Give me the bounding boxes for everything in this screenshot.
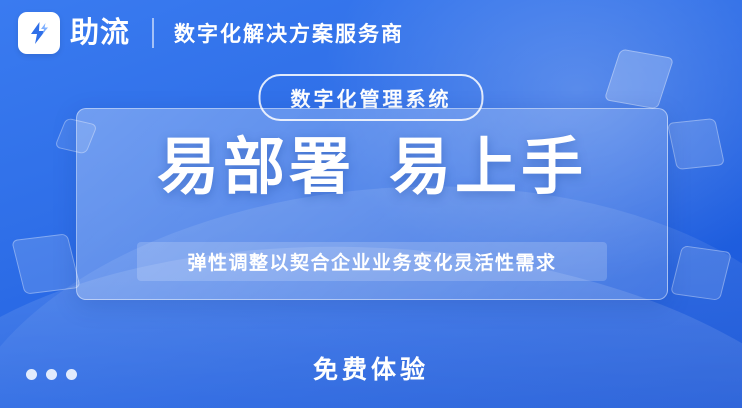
hero-headline-left: 易部署	[157, 133, 355, 202]
lightning-bolt-icon	[26, 20, 52, 46]
logo-text: 助流	[70, 19, 130, 48]
promo-banner: 助流 数字化解决方案服务商 数字化管理系统 易部署易上手 弹性调整以契合企业业务…	[0, 0, 742, 408]
header-divider	[152, 18, 154, 48]
carousel-dot[interactable]	[26, 369, 37, 380]
carousel-dot[interactable]	[46, 369, 57, 380]
carousel-dot[interactable]	[66, 369, 77, 380]
hero-headline: 易部署易上手	[77, 135, 667, 200]
cta-free-trial[interactable]: 免费体验	[0, 350, 742, 386]
hero-card: 易部署易上手 弹性调整以契合企业业务变化灵活性需求	[76, 108, 668, 300]
brand-header: 助流 数字化解决方案服务商	[0, 0, 742, 66]
hero-subline: 弹性调整以契合企业业务变化灵活性需求	[137, 242, 607, 281]
decorative-cube-icon	[667, 118, 725, 170]
brand-slogan: 数字化解决方案服务商	[174, 18, 404, 48]
hero-headline-right: 易上手	[389, 133, 587, 202]
carousel-dots[interactable]	[26, 369, 77, 380]
decorative-cube-icon	[11, 233, 81, 294]
logo-mark[interactable]	[18, 12, 60, 54]
